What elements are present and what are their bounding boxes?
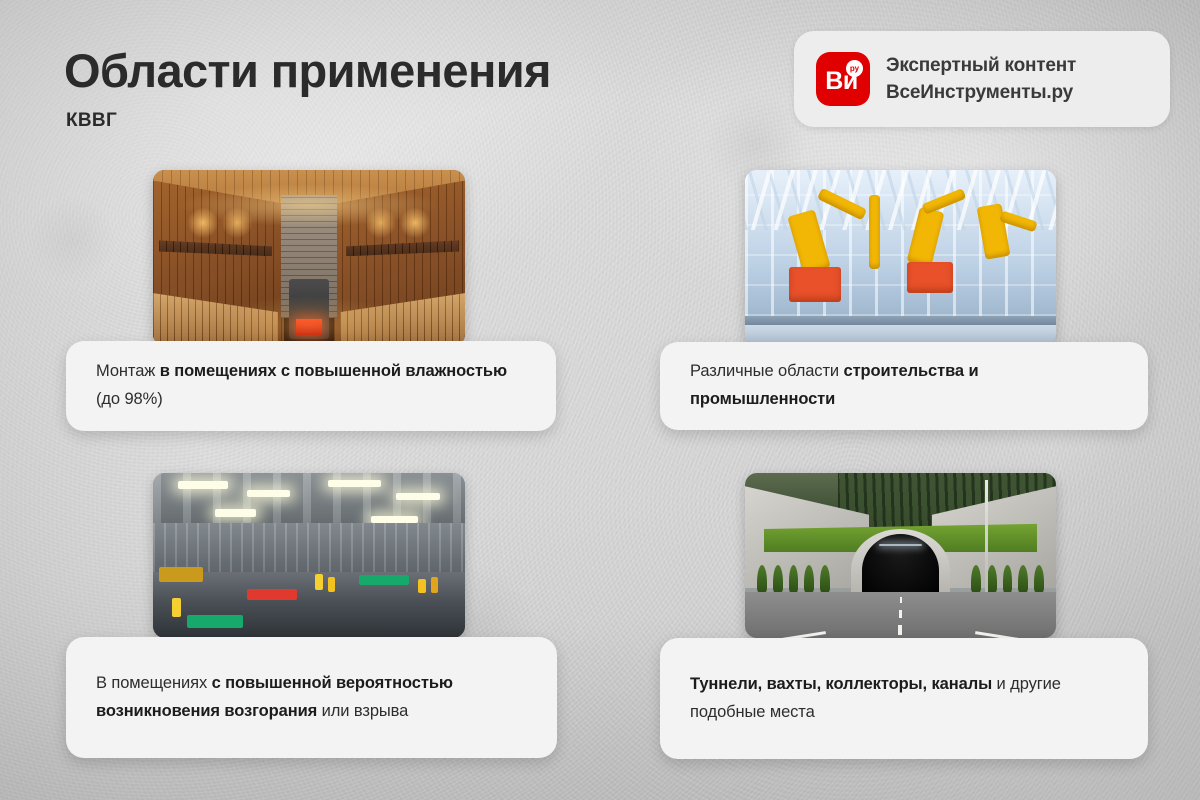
photo-tunnel-scene xyxy=(745,473,1056,638)
brand-line-1: Экспертный контент xyxy=(886,54,1076,78)
photo-road-tunnel xyxy=(745,473,1056,638)
page-title: Области применения xyxy=(64,46,551,95)
logo-ru-superscript: ру xyxy=(846,60,863,77)
brand-badge: Ви ру Экспертный контент ВсеИнструменты.… xyxy=(794,31,1170,127)
vseinstrumenty-logo-icon: Ви ру xyxy=(816,52,870,106)
caption-text: Монтаж в помещениях с повышенной влажнос… xyxy=(96,358,526,413)
photo-factory-scene xyxy=(745,170,1056,346)
caption-text: Различные области строительства и промыш… xyxy=(690,358,1118,413)
caption-text: Туннели, вахты, коллекторы, каналы и дру… xyxy=(690,671,1118,726)
brand-line-2: ВсеИнструменты.ру xyxy=(886,81,1076,105)
photo-commercial-kitchen xyxy=(153,473,465,638)
caption-text: В помещениях с повышенной вероятностью в… xyxy=(96,670,527,725)
page-subtitle: КВВГ xyxy=(66,110,117,132)
infographic-slide: Области применения КВВГ Ви ру Экспертный… xyxy=(0,0,1200,800)
caption-card-humidity: Монтаж в помещениях с повышенной влажнос… xyxy=(66,341,556,431)
caption-card-tunnels-shafts: Туннели, вахты, коллекторы, каналы и дру… xyxy=(660,638,1148,759)
photo-kitchen-scene xyxy=(153,473,465,638)
photo-industrial-robots xyxy=(745,170,1056,346)
caption-card-construction-industry: Различные области строительства и промыш… xyxy=(660,342,1148,430)
brand-text-block: Экспертный контент ВсеИнструменты.ру xyxy=(886,54,1076,105)
photo-sauna-interior xyxy=(153,170,465,346)
photo-sauna-scene xyxy=(153,170,465,346)
caption-card-fire-explosion-risk: В помещениях с повышенной вероятностью в… xyxy=(66,637,557,758)
